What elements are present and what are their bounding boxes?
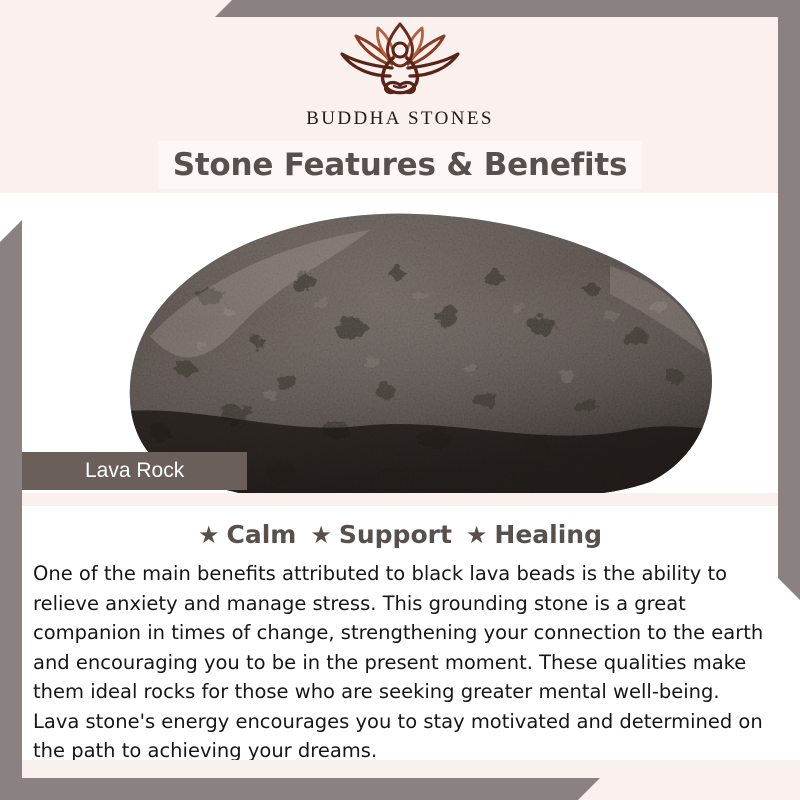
lotus-meditating-figure-icon [334, 22, 466, 104]
star-icon: ★ [198, 523, 220, 547]
brand-logo: BUDDHA STONES [0, 22, 800, 130]
stone-photo-stage [0, 193, 800, 493]
benefit-keywords: ★ Calm ★ Support ★ Healing [0, 520, 800, 549]
benefit-label: Calm [226, 520, 296, 549]
benefit-label: Support [339, 520, 452, 549]
star-icon: ★ [466, 523, 488, 547]
page-title: Stone Features & Benefits [173, 147, 628, 183]
frame-band-right [778, 0, 800, 600]
benefit-item-calm: ★ Calm [198, 520, 296, 549]
lava-rock-photo [90, 193, 730, 493]
benefit-item-healing: ★ Healing [466, 520, 602, 549]
section-separator [0, 493, 800, 506]
frame-band-bottom [0, 778, 600, 800]
frame-band-left [0, 220, 22, 800]
stone-name-label: Lava Rock [85, 459, 184, 483]
benefits-description: One of the main benefits attributed to b… [33, 559, 772, 766]
frame-band-top [215, 0, 800, 17]
star-icon: ★ [310, 523, 332, 547]
stone-features-poster: BUDDHA STONES Stone Features & Benefits [0, 0, 800, 800]
brand-name: BUDDHA STONES [306, 108, 494, 130]
benefit-item-support: ★ Support [310, 520, 452, 549]
stone-name-caption-bar: Lava Rock [0, 452, 247, 490]
title-banner: Stone Features & Benefits [158, 141, 642, 189]
benefits-section: ★ Calm ★ Support ★ Healing One of the ma… [0, 506, 800, 760]
benefit-label: Healing [494, 520, 602, 549]
